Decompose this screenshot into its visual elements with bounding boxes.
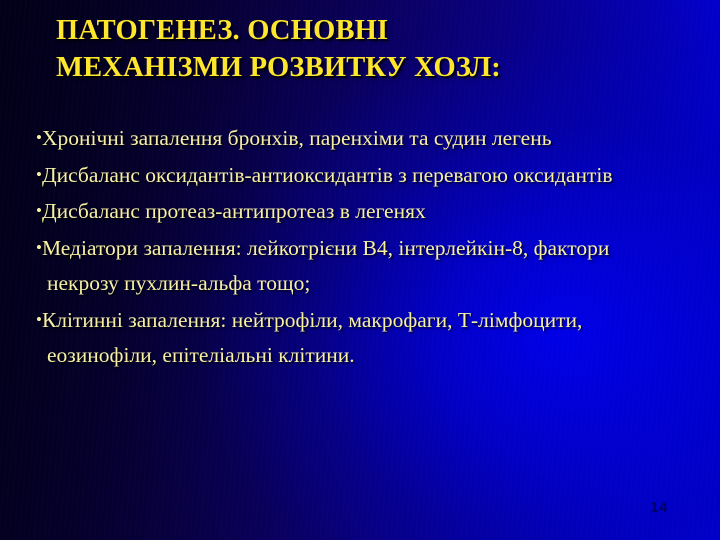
slide-title: ПАТОГЕНЕЗ. ОСНОВНІ МЕХАНІЗМИ РОЗВИТКУ ХО… [56,12,680,86]
bullet-item: •Дисбаланс протеаз-антипротеаз в легенях [36,193,684,230]
presentation-slide: ПАТОГЕНЕЗ. ОСНОВНІ МЕХАНІЗМИ РОЗВИТКУ ХО… [0,0,720,540]
slide-page-number: 14 [650,499,668,516]
bullet-text: Медіатори запалення: лейкотрієни В4, інт… [42,236,609,296]
bullet-text: Хронічні запалення бронхів, паренхіми та… [42,126,552,150]
bullet-text: Дисбаланс протеаз-антипротеаз в легенях [42,199,426,223]
bullet-item: •Медіатори запалення: лейкотрієни В4, ін… [36,230,684,302]
bullet-text: Клітинні запалення: нейтрофіли, макрофаг… [42,308,582,368]
bullet-item: •Хронічні запалення бронхів, паренхіми т… [36,120,684,157]
bullet-item: •Клітинні запалення: нейтрофіли, макрофа… [36,302,684,374]
bullet-text: Дисбаланс оксидантів-антиоксидантів з пе… [42,163,613,187]
slide-body-bullet-list: •Хронічні запалення бронхів, паренхіми т… [36,120,684,374]
slide-title-line-1: ПАТОГЕНЕЗ. ОСНОВНІ [56,12,680,49]
slide-title-line-2: МЕХАНІЗМИ РОЗВИТКУ ХОЗЛ: [56,49,680,86]
bullet-item: •Дисбаланс оксидантів-антиоксидантів з п… [36,157,684,194]
